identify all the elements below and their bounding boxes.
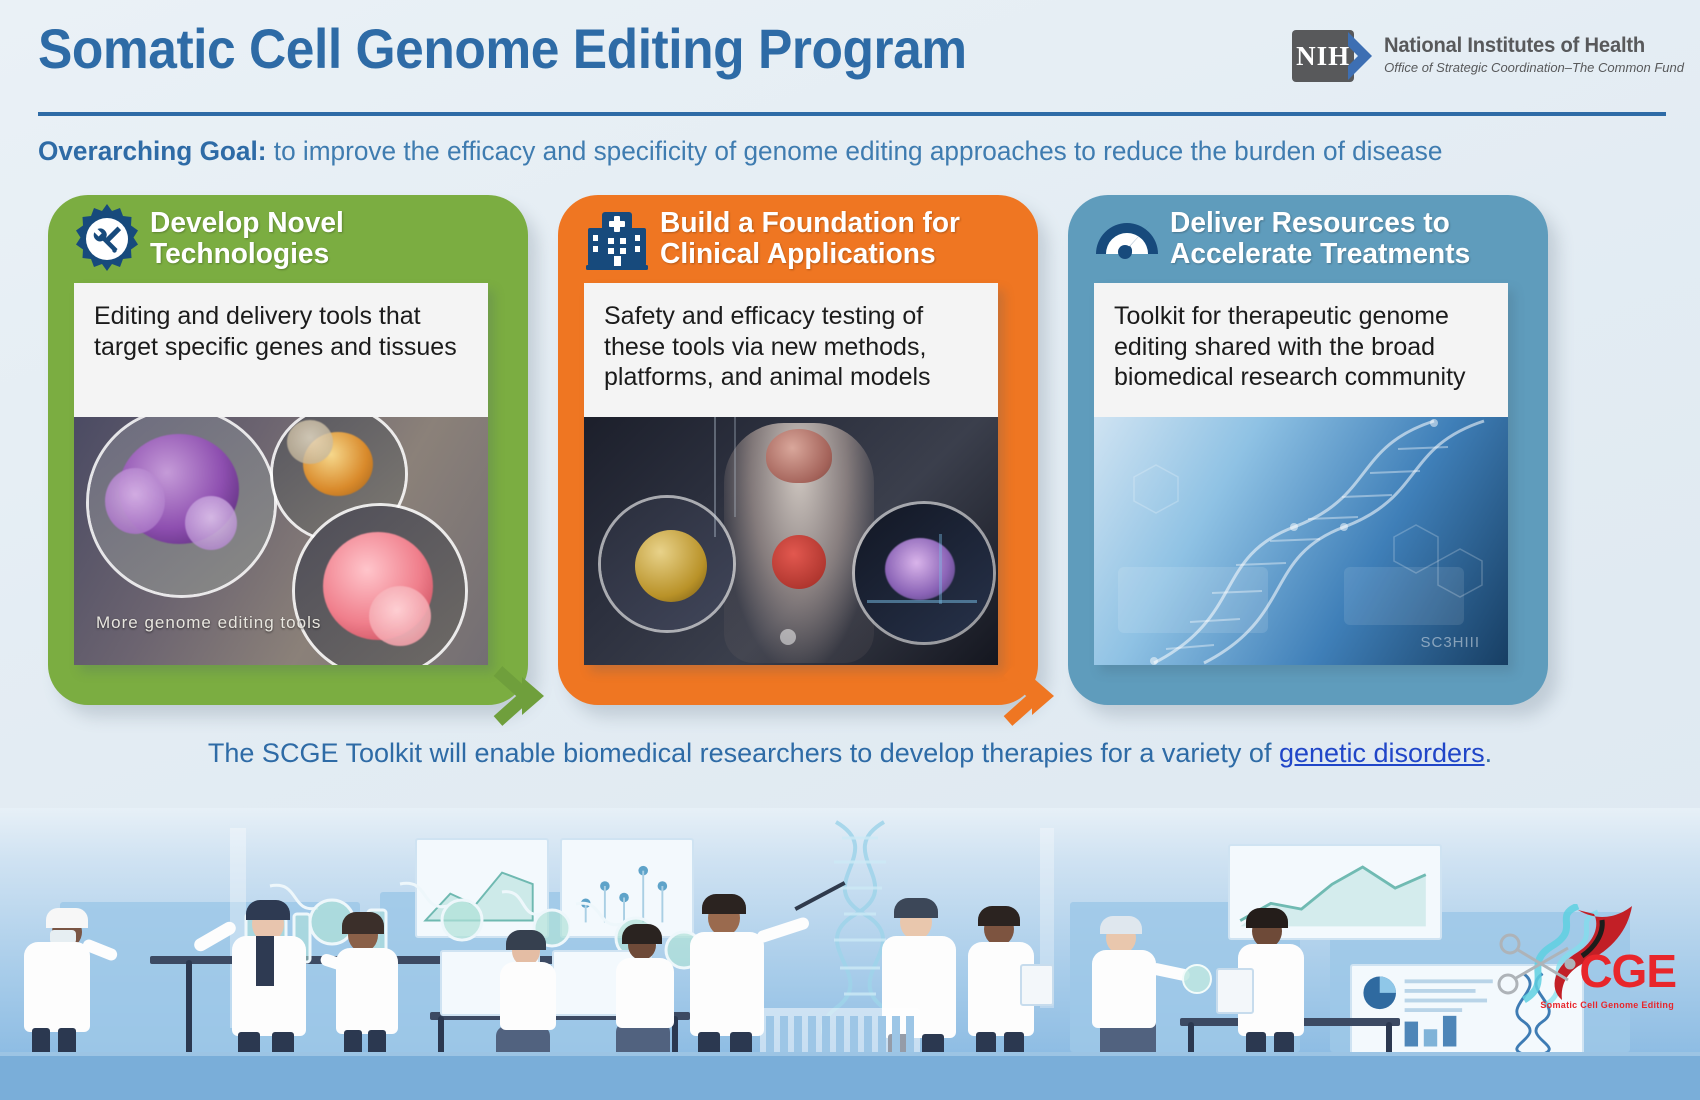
cge-logo-text: CGE (1579, 944, 1676, 998)
card-deliver-resources[interactable]: Deliver Resources to Accelerate Treatmen… (1068, 195, 1548, 705)
card1-image: More genome editing tools (74, 417, 488, 665)
lab-illustration: CGE Somatic Cell Genome Editing (0, 808, 1700, 1100)
brain-illustration (766, 429, 832, 483)
speedometer-gauge-icon (1090, 202, 1164, 276)
nih-logo-subtitle: Office of Strategic Coordination–The Com… (1384, 60, 1684, 75)
card3-title: Deliver Resources to Accelerate Treatmen… (1170, 208, 1537, 271)
overarching-goal: Overarching Goal: to improve the efficac… (38, 136, 1619, 167)
chevron-right-icon (1346, 30, 1378, 82)
genome-editing-tools-image: More genome editing tools (74, 417, 488, 665)
dna-helix-graphic (1094, 417, 1508, 665)
card1-body: Editing and delivery tools that target s… (74, 283, 488, 665)
card1-header: Develop Novel Technologies (48, 195, 528, 283)
caption-before: The SCGE Toolkit will enable biomedical … (208, 738, 1279, 768)
card3-text: Toolkit for therapeutic genome editing s… (1094, 283, 1508, 405)
pillar-cards: Develop Novel Technologies Editing and d… (0, 195, 1700, 725)
nih-logo-mark: NIH (1292, 30, 1378, 82)
gear-tools-icon (70, 202, 144, 276)
card3-header: Deliver Resources to Accelerate Treatmen… (1068, 195, 1548, 283)
caption: The SCGE Toolkit will enable biomedical … (0, 738, 1700, 769)
card2-body: Safety and efficacy testing of these too… (584, 283, 998, 665)
nih-logo-text: NIH (1292, 30, 1354, 82)
nih-logo-wordmark: National Institutes of Health Office of … (1384, 30, 1684, 75)
card-build-foundation[interactable]: Build a Foundation for Clinical Applicat… (558, 195, 1038, 705)
arrow-card2-to-card3 (1002, 665, 1074, 727)
card2-header: Build a Foundation for Clinical Applicat… (558, 195, 1038, 283)
hospital-building-icon (580, 202, 654, 276)
cge-logo: CGE Somatic Cell Genome Editing (1482, 904, 1678, 1016)
card2-image (584, 417, 998, 665)
protein-circle-purple (86, 417, 277, 598)
gold-sphere (635, 530, 707, 602)
dna-toolkit-image: SC3HIII (1094, 417, 1508, 665)
heart-illustration (772, 535, 826, 589)
arrow-card1-to-card2 (492, 665, 564, 727)
infographic-page: Somatic Cell Genome Editing Program NIH … (0, 0, 1700, 1100)
protein-circle-pink (292, 503, 468, 665)
card3-image-caption: SC3HIII (1420, 634, 1480, 651)
nih-logo-name: National Institutes of Health (1384, 34, 1672, 58)
card2-title: Build a Foundation for Clinical Applicat… (660, 208, 1027, 271)
page-title: Somatic Cell Genome Editing Program (38, 16, 967, 81)
caption-after: . (1485, 738, 1493, 768)
nih-logo: NIH National Institutes of Health Office… (1292, 30, 1684, 82)
card-develop-novel-technologies[interactable]: Develop Novel Technologies Editing and d… (48, 195, 528, 705)
header-divider (38, 112, 1666, 116)
card3-body: Toolkit for therapeutic genome editing s… (1094, 283, 1508, 665)
overarching-goal-text: to improve the efficacy and specificity … (267, 136, 1443, 166)
card3-image: SC3HIII (1094, 417, 1508, 665)
genetic-disorders-link[interactable]: genetic disorders (1279, 738, 1485, 768)
device-circle (852, 501, 996, 645)
card1-image-caption: More genome editing tools (96, 613, 321, 633)
card1-title: Develop Novel Technologies (150, 208, 517, 271)
clinical-testing-image (584, 417, 998, 665)
overarching-goal-label: Overarching Goal: (38, 136, 267, 166)
page-header: Somatic Cell Genome Editing Program NIH … (0, 0, 1700, 120)
card2-text: Safety and efficacy testing of these too… (584, 283, 998, 405)
cge-logo-subtitle: Somatic Cell Genome Editing (1540, 1000, 1674, 1010)
card1-text: Editing and delivery tools that target s… (74, 283, 488, 374)
